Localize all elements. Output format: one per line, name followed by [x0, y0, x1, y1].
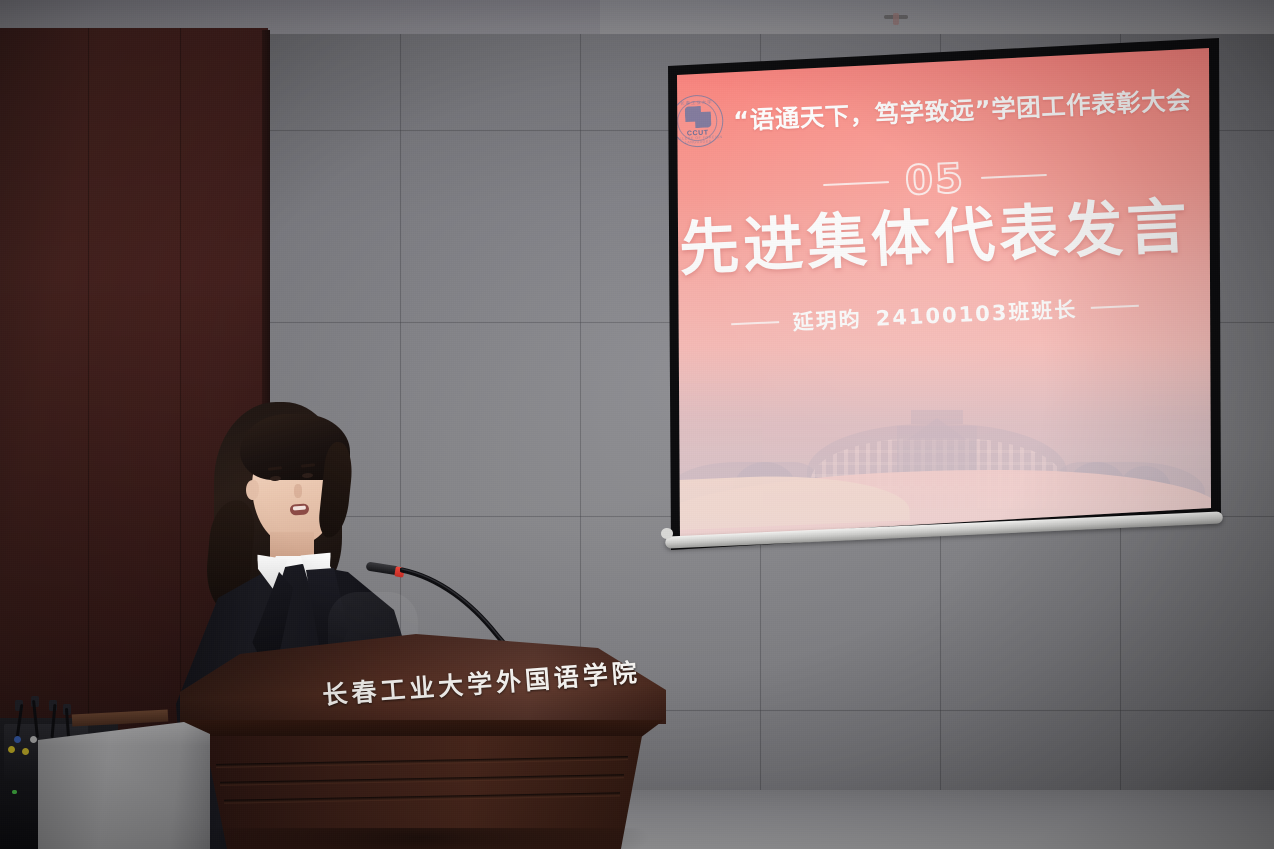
- lectern-podium: 长春工业大学外国语学院: [172, 628, 672, 849]
- slide-speaker-name: 延玥昀: [792, 303, 862, 336]
- campus-building-illustration: [649, 346, 1221, 536]
- power-led-indicator: [12, 790, 17, 794]
- logo-arc-bottom-text: COLLEGE OF FOREIGN LANGUAGES: [673, 135, 723, 145]
- slide-speaker-credit-row: 延玥昀 24100103班班长: [649, 287, 1221, 343]
- slide-banner-title: “语通天下，笃学致远”学团工作表彰大会: [732, 81, 1191, 137]
- ccut-university-logo-icon: 长春工业大学 CCUT COLLEGE OF FOREIGN LANGUAGES: [670, 94, 724, 148]
- podium-lip: [182, 720, 664, 738]
- slide-surface: 长春工业大学 CCUT COLLEGE OF FOREIGN LANGUAGES…: [649, 38, 1221, 550]
- mouth: [290, 503, 310, 515]
- rca-jack-blue: [14, 736, 21, 743]
- rca-jack-yellow: [22, 748, 29, 755]
- ceiling-sprinkler-icon: [884, 11, 908, 25]
- rca-jack-yellow: [8, 746, 15, 753]
- slide-header-row: 长春工业大学 CCUT COLLEGE OF FOREIGN LANGUAGES…: [670, 66, 1212, 154]
- rule-left: [823, 181, 889, 186]
- credit-rule-right: [1091, 305, 1139, 309]
- rca-jack-white: [30, 736, 37, 743]
- ear: [246, 480, 259, 500]
- slide-speaker-role: 24100103班班长: [875, 294, 1078, 333]
- logo-arc-top-text: 长春工业大学: [671, 99, 721, 107]
- presentation-photo-scene: 长春工业大学 CCUT COLLEGE OF FOREIGN LANGUAGES…: [0, 0, 1274, 849]
- slide-section-number: 05: [904, 159, 965, 202]
- podium-floor-shadow: [192, 828, 652, 849]
- credit-rule-left: [731, 321, 779, 325]
- projection-screen: 长春工业大学 CCUT COLLEGE OF FOREIGN LANGUAGES…: [649, 38, 1221, 568]
- nose: [294, 484, 302, 498]
- rule-right: [981, 174, 1047, 179]
